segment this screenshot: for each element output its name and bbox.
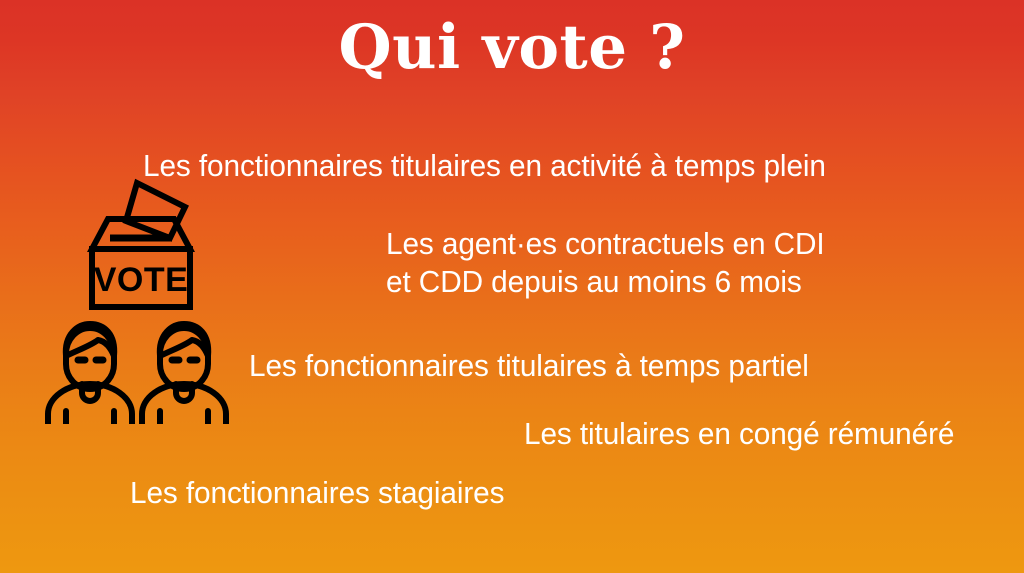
ballot-box-icon: VOTE <box>72 176 204 310</box>
ballot-box-label: VOTE <box>94 261 189 299</box>
statement-line-1: Les fonctionnaires titulaires en activit… <box>143 147 826 185</box>
statement-line-5: Les fonctionnaires stagiaires <box>130 474 504 512</box>
icon-group: VOTE <box>44 176 244 426</box>
two-voters-icon <box>44 316 230 424</box>
statement-line-2: Les agent·es contractuels en CDI et CDD … <box>386 225 825 301</box>
statement-line-2-part-1: Les agent·es contractuels en CDI <box>386 226 825 261</box>
page-title: Qui vote ? <box>0 14 1024 81</box>
statement-line-2-part-2: et CDD depuis au moins 6 mois <box>386 263 825 301</box>
statement-line-3: Les fonctionnaires titulaires à temps pa… <box>249 347 809 385</box>
statement-line-4: Les titulaires en congé rémunéré <box>524 415 954 453</box>
poster-canvas: Qui vote ? VOTE <box>0 0 1024 573</box>
